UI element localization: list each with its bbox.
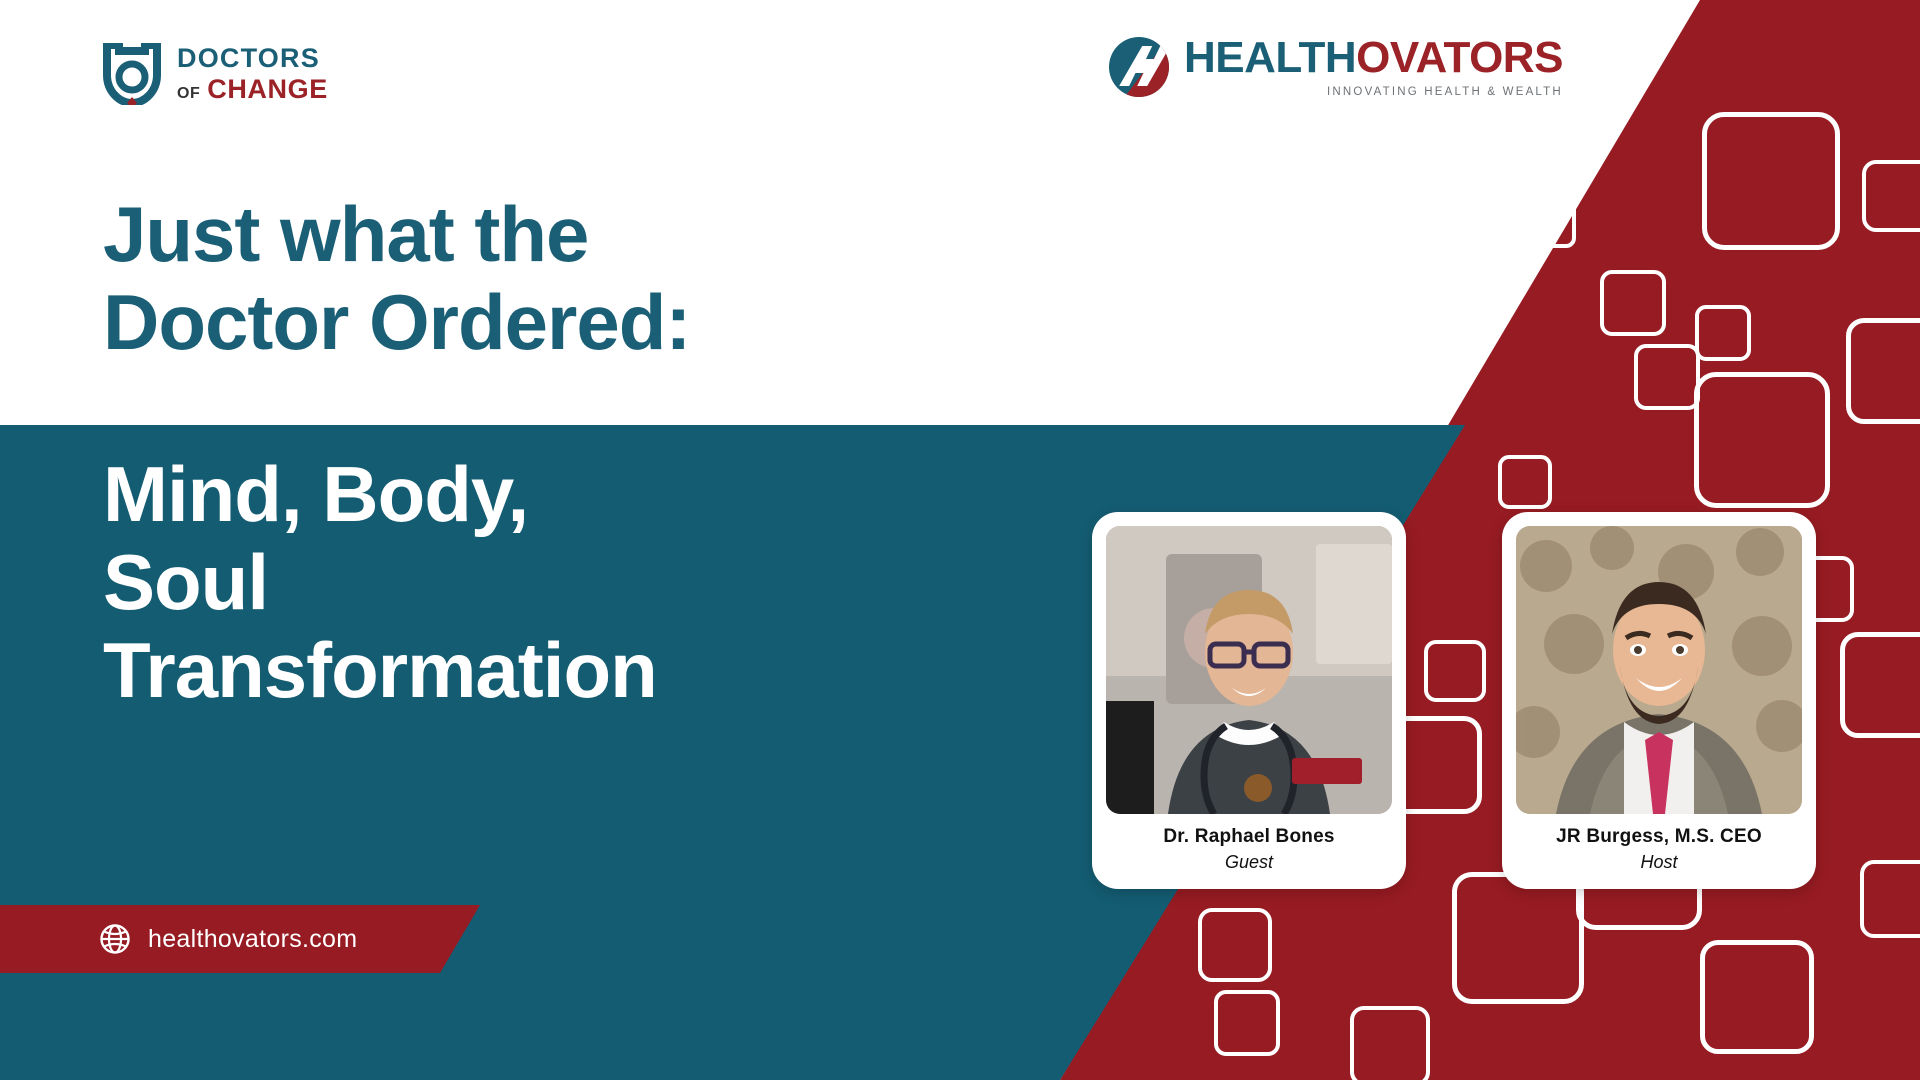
speaker-name-guest: Dr. Raphael Bones [1112, 826, 1386, 848]
logo-change-text: CHANGE [207, 76, 328, 103]
headline-top: Just what the Doctor Ordered: [103, 190, 1103, 366]
stethoscope-shield-icon [103, 43, 161, 105]
logo-healthovators[interactable]: HEALTH OVATORS INNOVATING HEALTH & WEALT… [1108, 36, 1563, 98]
website-url: healthovators.com [148, 925, 357, 954]
avatar-photo-host [1516, 526, 1802, 814]
headline-line-5: Transformation [103, 626, 1133, 714]
speaker-role-host: Host [1522, 852, 1796, 873]
speaker-name-host: JR Burgess, M.S. CEO [1522, 826, 1796, 848]
logo-doctors-text: DOCTORS [177, 45, 328, 72]
logo-doctors-of-change[interactable]: DOCTORS OF CHANGE [103, 43, 328, 105]
speaker-role-guest: Guest [1112, 852, 1386, 873]
headline-line-4: Soul [103, 538, 1133, 626]
website-ribbon[interactable]: healthovators.com [0, 905, 480, 973]
headline-line-2: Doctor Ordered: [103, 278, 1103, 366]
logo-of-text: OF [177, 86, 200, 102]
logo-healthovators-tagline: INNOVATING HEALTH & WEALTH [1184, 86, 1563, 98]
avatar-photo-guest [1106, 526, 1392, 814]
presentation-slide: DOCTORS OF CHANGE HEALTH [0, 0, 1920, 1080]
healthovators-h-circle-icon [1108, 36, 1170, 98]
speaker-card-guest[interactable]: Dr. Raphael Bones Guest [1092, 512, 1406, 889]
headline-line-3: Mind, Body, [103, 450, 1133, 538]
logo-health-text: HEALTH [1184, 36, 1356, 80]
speaker-card-host[interactable]: JR Burgess, M.S. CEO Host [1502, 512, 1816, 889]
globe-icon [100, 924, 130, 954]
headline-bottom: Mind, Body, Soul Transformation [103, 450, 1133, 714]
headline-line-1: Just what the [103, 190, 1103, 278]
logo-ovators-text: OVATORS [1356, 36, 1563, 80]
